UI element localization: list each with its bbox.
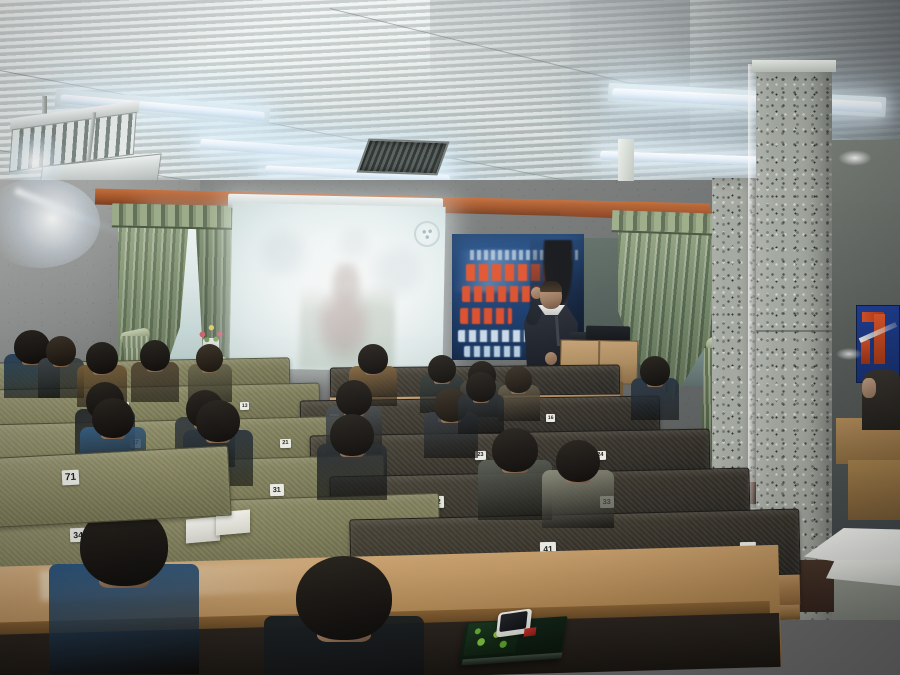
person-head [140, 340, 170, 371]
presenter-hand [545, 352, 557, 365]
flowers-icon [196, 320, 228, 344]
person-head [46, 336, 76, 366]
banner-text-line [464, 346, 522, 357]
person-head [428, 355, 456, 383]
tissue-box [186, 517, 220, 544]
screen-watermark-dots-icon [420, 227, 434, 241]
column-seam [756, 330, 832, 332]
person-head [505, 366, 532, 393]
seat-number-tag: 71 [62, 470, 80, 486]
seat-number-tag: 13 [240, 402, 250, 410]
lecture-hall-photo: 1213141516172122232425313233344142 71 [0, 0, 900, 675]
person-head [296, 556, 392, 640]
seat-backrest [0, 446, 232, 529]
poster-calligraphy [874, 314, 885, 364]
light-glare [836, 348, 862, 360]
person-head [466, 372, 496, 402]
person-head [330, 414, 374, 456]
person-head [336, 380, 372, 416]
person-head [92, 398, 134, 438]
seat-number-tag: 16 [546, 414, 556, 422]
light-glare [838, 150, 872, 166]
banner-text-line [460, 308, 512, 324]
column-capital [752, 60, 836, 72]
person-head [358, 344, 388, 374]
person-head [86, 342, 118, 374]
air-vent-grille-icon [356, 139, 449, 176]
poster-calligraphy [861, 340, 870, 364]
seat-number-tag: 21 [280, 439, 291, 448]
seat-number-tag: 31 [270, 483, 284, 495]
ceiling-shadow-mid [430, 0, 690, 150]
bench-far-right [848, 460, 900, 520]
person-head [196, 400, 240, 442]
person-head [556, 440, 600, 482]
banner-text-line [462, 286, 540, 302]
person-head [492, 428, 538, 472]
ceiling-junction-box [618, 139, 634, 181]
presenter-hair [540, 281, 562, 292]
curtain-valance [612, 210, 721, 236]
person-head [196, 344, 223, 372]
person-head [640, 356, 670, 386]
person-face [862, 378, 876, 398]
